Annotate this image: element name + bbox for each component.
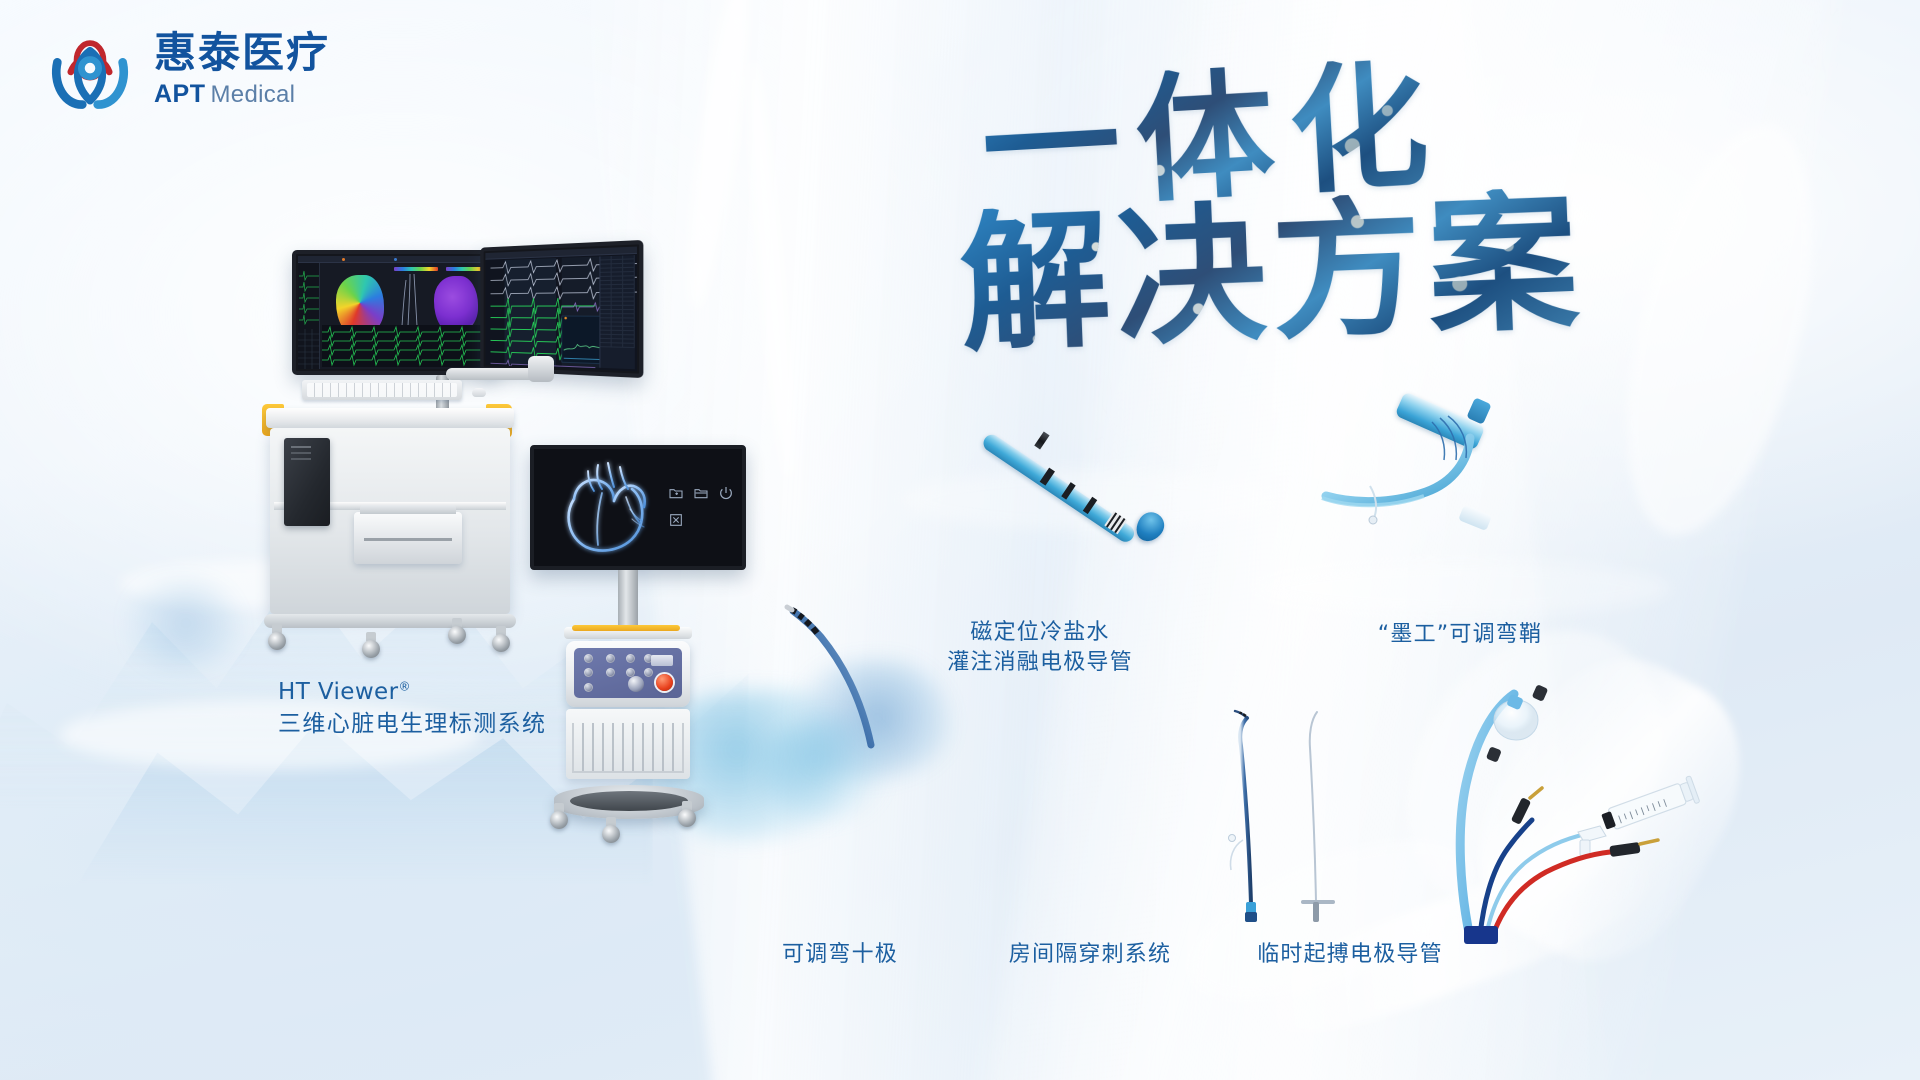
cart-caster — [446, 618, 468, 644]
product-irrigated-ablation-catheter — [985, 430, 1185, 560]
headline-calligraphy: 一体化 解决方案 — [960, 30, 1680, 360]
heart-display-monitor — [530, 445, 746, 570]
monitor-arm-horizontal — [446, 368, 538, 380]
workstation-product-name-cn: 三维心脏电生理标测系统 — [278, 708, 546, 740]
banner-canvas: 惠泰医疗 APT Medical 一体化 解决方案 — [0, 0, 1920, 1080]
display-stand-post — [618, 570, 638, 630]
watercolor-splash-decor — [120, 580, 240, 670]
logo-name-en-medical: Medical — [211, 81, 296, 109]
decapolar-shaft — [785, 595, 895, 765]
rf-generator — [566, 641, 690, 707]
pacing-catheter-assembly — [1450, 680, 1740, 942]
cart-caster — [360, 632, 382, 658]
label-irrigated-ablation-catheter: 磁定位冷盐水 灌注消融电极导管 — [860, 618, 1220, 677]
display-cart-caster — [548, 803, 570, 829]
open-folder-icon[interactable] — [693, 485, 709, 501]
rf-connector-port[interactable] — [584, 668, 593, 677]
rf-generator-panel — [574, 648, 682, 698]
label-line-1: 磁定位冷盐水 — [970, 620, 1109, 645]
rf-status-display — [651, 655, 673, 666]
cart-base — [264, 614, 516, 628]
power-icon[interactable] — [718, 485, 734, 501]
brand-logo[interactable]: 惠泰医疗 APT Medical — [42, 22, 330, 118]
ecg-screen — [485, 247, 637, 372]
product-decapolar-catheter — [785, 595, 895, 755]
cart-worktop — [266, 408, 514, 428]
rf-connector-port[interactable] — [606, 668, 615, 677]
heart-display-cart — [530, 445, 800, 865]
product-transseptal-puncture-system — [1225, 690, 1385, 920]
rf-connector-port[interactable] — [626, 654, 635, 663]
display-cart-base-ring — [570, 791, 688, 811]
display-cart-tray-accent — [572, 625, 680, 631]
cart-caster — [266, 624, 288, 650]
workstation-product-name-en: HT Viewer® — [278, 676, 546, 708]
display-cart-caster — [676, 801, 698, 827]
pc-tower — [284, 438, 330, 526]
mapping-monitor — [292, 250, 500, 375]
mapping-screen — [298, 256, 494, 369]
label-line-2: 灌注消融电极导管 — [947, 650, 1133, 675]
heart-render — [540, 453, 668, 565]
measurement-table — [599, 255, 634, 369]
monitor-arm-joint — [528, 356, 554, 382]
cart-caster — [490, 626, 512, 652]
label-line-1: 房间隔穿刺系统 — [1009, 942, 1171, 967]
ecg-monitor — [480, 240, 643, 378]
headline-line-2: 解决方案 — [957, 186, 1586, 360]
label-temporary-pacing-catheter: 临时起搏电极导管 — [1160, 940, 1540, 970]
catheter-electrodes — [985, 430, 1185, 560]
workstation-label: HT Viewer® 三维心脏电生理标测系统 — [278, 676, 546, 740]
rf-power-button[interactable] — [656, 674, 673, 691]
apt-medical-logo-icon — [42, 22, 138, 118]
rf-ground-port[interactable] — [584, 683, 593, 692]
printer — [354, 512, 462, 564]
logo-name-en-apt: APT — [154, 80, 206, 109]
rf-connector-port[interactable] — [606, 654, 615, 663]
fullscreen-icon[interactable] — [668, 512, 684, 528]
logo-name-cn: 惠泰医疗 — [154, 31, 330, 75]
keyboard[interactable] — [302, 380, 462, 400]
label-steerable-sheath: “墨工”可调弯鞘 — [1300, 620, 1620, 650]
rf-main-connector[interactable] — [628, 676, 644, 692]
transseptal-components — [1225, 690, 1385, 925]
product-temporary-pacing-catheter — [1450, 680, 1740, 940]
display-cart-basket — [572, 723, 684, 773]
product-steerable-sheath — [1320, 400, 1550, 600]
new-folder-icon[interactable] — [668, 485, 684, 501]
label-line-1: 可调弯十极 — [782, 942, 898, 967]
rf-connector-port[interactable] — [644, 668, 653, 677]
display-icon-row — [668, 485, 734, 528]
label-line-1: “墨工”可调弯鞘 — [1378, 622, 1542, 647]
trademark-symbol: ® — [398, 679, 410, 693]
rf-connector-port[interactable] — [584, 654, 593, 663]
ecg-trace-panel — [322, 325, 492, 367]
mouse[interactable] — [472, 388, 486, 397]
display-cart-caster — [600, 817, 622, 843]
label-line-1: 临时起搏电极导管 — [1257, 942, 1443, 967]
logo-wordmark: 惠泰医疗 APT Medical — [154, 31, 330, 109]
